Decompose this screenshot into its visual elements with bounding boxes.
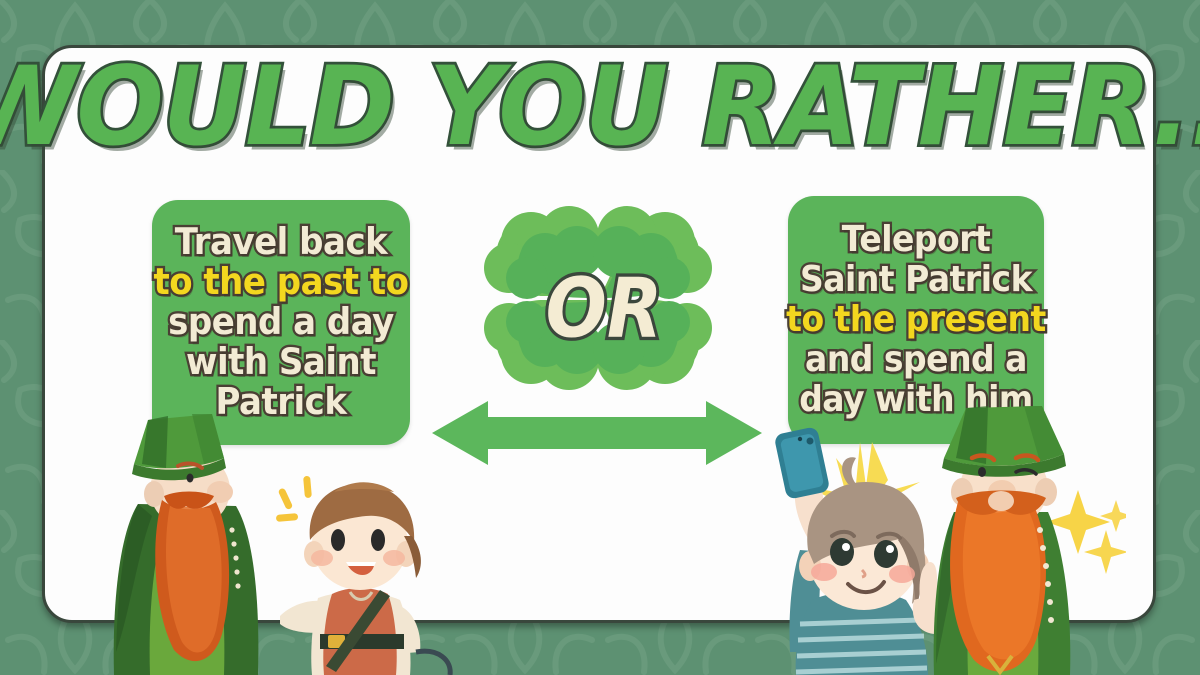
option-right-line-1: Teleport bbox=[842, 218, 991, 261]
option-right-line-4: and spend a bbox=[805, 338, 1027, 381]
option-left-line-1: Travel back bbox=[175, 220, 387, 263]
double-headed-arrow-icon bbox=[432, 399, 762, 467]
clover-or-connector: OR bbox=[483, 186, 713, 414]
sparkle-icon bbox=[276, 476, 312, 522]
option-left-line-3: spend a day bbox=[168, 300, 394, 343]
option-left-line-4: with Saint bbox=[186, 340, 376, 383]
option-left-line-2: to the past to bbox=[153, 260, 408, 303]
illustration-saint-patrick-present bbox=[930, 402, 1126, 675]
option-right-line-3: to the present bbox=[786, 298, 1046, 341]
option-right-line-2: Saint Patrick bbox=[800, 258, 1032, 301]
illustration-medieval-boy bbox=[274, 466, 464, 675]
smartphone-icon bbox=[774, 426, 831, 500]
page-title: WOULD YOU RATHER... bbox=[0, 52, 1200, 161]
option-left-box[interactable]: Travel back to the past to spend a day w… bbox=[152, 200, 410, 445]
